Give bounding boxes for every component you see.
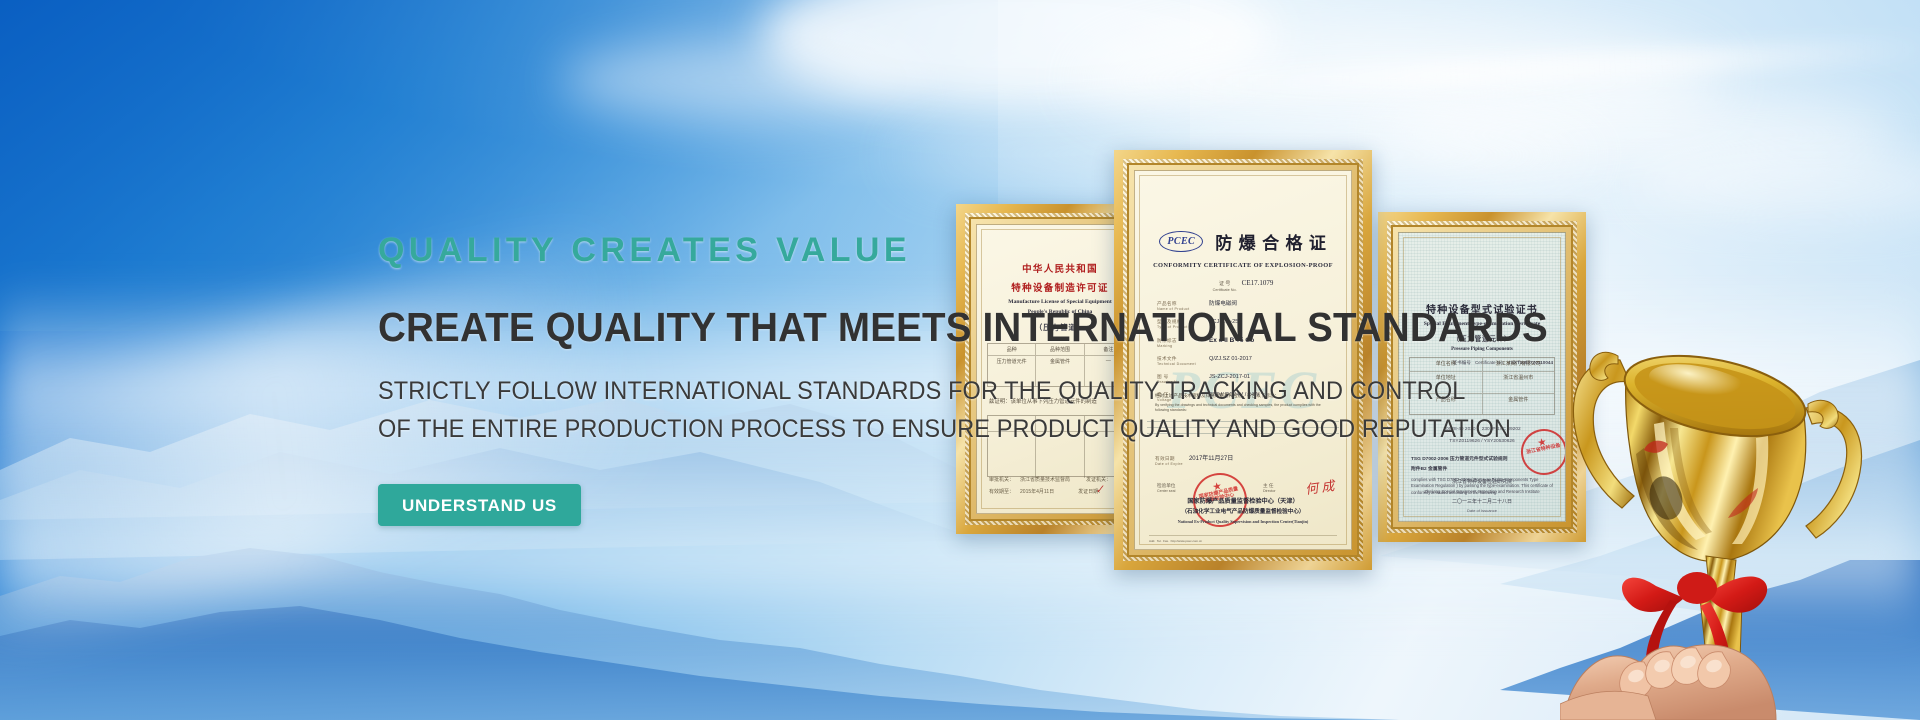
hero-subtitle: STRICTLY FOLLOW INTERNATIONAL STANDARDS … <box>378 373 1487 448</box>
hero-subtitle-line-2: OF THE ENTIRE PRODUCTION PROCESS TO ENSU… <box>378 411 1487 449</box>
page-title: CREATE QUALITY THAT MEETS INTERNATIONAL … <box>378 305 1487 351</box>
understand-us-button[interactable]: UNDERSTAND US <box>378 484 581 526</box>
trophy-and-hands-illustration <box>1560 330 1920 720</box>
hero-text-block: QUALITY CREATES VALUE CREATE QUALITY THA… <box>378 232 1558 526</box>
ribbon-knot <box>1677 572 1717 604</box>
hero-subtitle-line-1: STRICTLY FOLLOW INTERNATIONAL STANDARDS … <box>378 373 1487 411</box>
eyebrow-heading: QUALITY CREATES VALUE <box>378 232 1558 269</box>
hero-banner: 中华人民共和国 特种设备制造许可证 Manufacture License of… <box>0 0 1920 720</box>
